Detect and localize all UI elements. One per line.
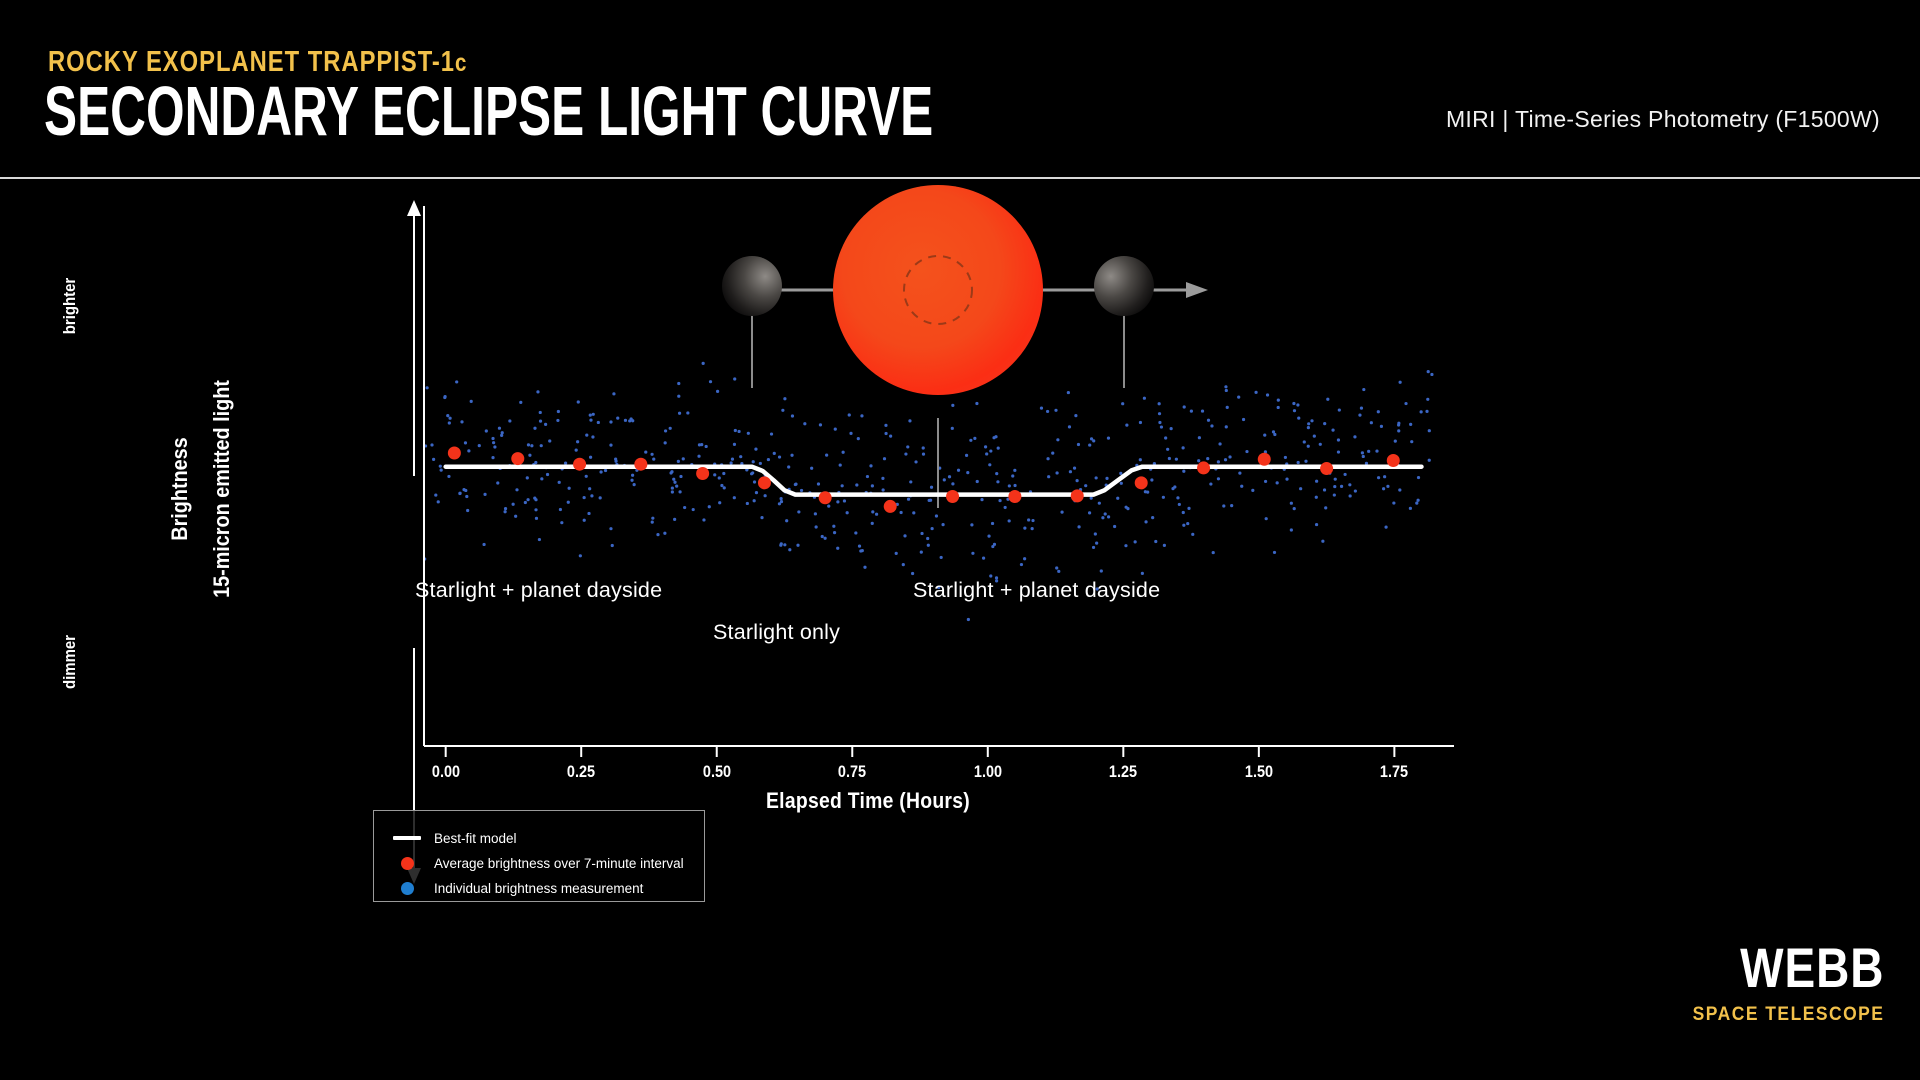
raw-point bbox=[842, 451, 845, 454]
raw-point bbox=[1187, 507, 1190, 510]
raw-point bbox=[1056, 438, 1059, 441]
raw-point bbox=[1307, 422, 1310, 425]
x-axis-tick-label: 1.75 bbox=[1380, 762, 1408, 782]
raw-point bbox=[1107, 515, 1110, 518]
raw-point bbox=[530, 444, 533, 447]
raw-point bbox=[567, 501, 570, 504]
raw-point bbox=[1004, 506, 1007, 509]
raw-point bbox=[773, 452, 776, 455]
raw-point bbox=[821, 535, 824, 538]
raw-point bbox=[973, 437, 976, 440]
raw-point bbox=[866, 475, 869, 478]
raw-point bbox=[911, 572, 914, 575]
raw-point bbox=[1321, 540, 1324, 543]
raw-point bbox=[752, 460, 755, 463]
raw-point bbox=[1358, 413, 1361, 416]
raw-point bbox=[1251, 489, 1254, 492]
raw-point bbox=[1338, 408, 1341, 411]
x-axis-tick-label: 0.75 bbox=[838, 762, 866, 782]
raw-point bbox=[760, 516, 763, 519]
raw-point bbox=[528, 454, 531, 457]
raw-point bbox=[1057, 570, 1060, 573]
raw-point bbox=[1119, 472, 1122, 475]
binned-point bbox=[1135, 476, 1148, 489]
raw-point bbox=[536, 390, 539, 393]
raw-point bbox=[841, 484, 844, 487]
raw-point bbox=[1337, 438, 1340, 441]
raw-point bbox=[1206, 457, 1209, 460]
raw-point bbox=[1146, 491, 1149, 494]
binned-point bbox=[634, 458, 647, 471]
raw-point bbox=[1265, 517, 1268, 520]
raw-point bbox=[1186, 522, 1189, 525]
raw-point bbox=[708, 505, 711, 508]
raw-point bbox=[464, 489, 467, 492]
raw-point bbox=[875, 513, 878, 516]
raw-point bbox=[1046, 410, 1049, 413]
raw-point bbox=[833, 531, 836, 534]
instrument-label: MIRI | Time-Series Photometry (F1500W) bbox=[1446, 106, 1880, 133]
raw-point bbox=[834, 427, 837, 430]
raw-point bbox=[1326, 398, 1329, 401]
raw-point bbox=[539, 411, 542, 414]
raw-point bbox=[1263, 434, 1266, 437]
raw-point bbox=[1218, 442, 1221, 445]
raw-point bbox=[1392, 501, 1395, 504]
x-axis-tick-label: 1.00 bbox=[974, 762, 1002, 782]
raw-point bbox=[759, 462, 762, 465]
raw-point bbox=[767, 458, 770, 461]
raw-point bbox=[1151, 516, 1154, 519]
raw-point bbox=[540, 477, 543, 480]
raw-point bbox=[1074, 414, 1077, 417]
raw-point bbox=[466, 509, 469, 512]
raw-point bbox=[848, 413, 851, 416]
raw-point bbox=[1417, 476, 1420, 479]
raw-point bbox=[568, 487, 571, 490]
raw-point bbox=[920, 551, 923, 554]
raw-point bbox=[1031, 519, 1034, 522]
raw-point bbox=[702, 518, 705, 521]
raw-point bbox=[1164, 436, 1167, 439]
raw-point bbox=[1121, 402, 1124, 405]
raw-point bbox=[483, 493, 486, 496]
binned-point bbox=[448, 447, 461, 460]
raw-point bbox=[682, 457, 685, 460]
raw-point bbox=[538, 538, 541, 541]
raw-point bbox=[733, 496, 736, 499]
raw-point bbox=[783, 397, 786, 400]
raw-point bbox=[754, 448, 757, 451]
raw-point bbox=[631, 419, 634, 422]
raw-point bbox=[951, 427, 954, 430]
raw-point bbox=[430, 443, 433, 446]
raw-point bbox=[989, 449, 992, 452]
raw-point bbox=[869, 464, 872, 467]
raw-point bbox=[940, 556, 943, 559]
raw-point bbox=[1428, 429, 1431, 432]
raw-point bbox=[677, 460, 680, 463]
binned-point bbox=[1071, 489, 1084, 502]
raw-point bbox=[1242, 418, 1245, 421]
raw-point bbox=[590, 494, 593, 497]
raw-point bbox=[984, 445, 987, 448]
raw-point bbox=[819, 423, 822, 426]
raw-point bbox=[1297, 417, 1300, 420]
raw-point bbox=[589, 414, 592, 417]
raw-point bbox=[1141, 572, 1144, 575]
raw-point bbox=[512, 503, 515, 506]
raw-point bbox=[713, 473, 716, 476]
raw-point bbox=[912, 511, 915, 514]
raw-point bbox=[683, 506, 686, 509]
raw-point bbox=[1069, 470, 1072, 473]
raw-point bbox=[1166, 448, 1169, 451]
raw-point bbox=[709, 380, 712, 383]
binned-point bbox=[946, 490, 959, 503]
raw-point bbox=[1217, 477, 1220, 480]
raw-point bbox=[1370, 421, 1373, 424]
legend-item-average-brightness: Average brightness over 7-minute interva… bbox=[390, 852, 684, 874]
webb-logo: WEBB SPACE TELESCOPE bbox=[1676, 946, 1884, 1024]
raw-point bbox=[671, 490, 674, 493]
raw-point bbox=[836, 500, 839, 503]
best-fit-model-line bbox=[446, 467, 1422, 495]
raw-point bbox=[836, 547, 839, 550]
raw-point bbox=[1094, 532, 1097, 535]
raw-point bbox=[559, 508, 562, 511]
raw-point bbox=[1238, 472, 1241, 475]
annotation-starlight-plus-dayside-right: Starlight + planet dayside bbox=[913, 578, 1160, 603]
raw-point bbox=[922, 446, 925, 449]
raw-point bbox=[1013, 484, 1016, 487]
raw-point bbox=[498, 427, 501, 430]
raw-point bbox=[1349, 494, 1352, 497]
raw-point bbox=[1068, 425, 1071, 428]
raw-point bbox=[751, 471, 754, 474]
raw-point bbox=[624, 419, 627, 422]
raw-point bbox=[1212, 551, 1215, 554]
raw-point bbox=[588, 487, 591, 490]
raw-point bbox=[677, 395, 680, 398]
raw-point bbox=[611, 544, 614, 547]
raw-point bbox=[1409, 507, 1412, 510]
raw-point bbox=[1182, 446, 1185, 449]
raw-point bbox=[437, 500, 440, 503]
raw-point bbox=[1139, 458, 1142, 461]
raw-point bbox=[1426, 398, 1429, 401]
raw-point bbox=[817, 482, 820, 485]
raw-point bbox=[969, 439, 972, 442]
raw-point bbox=[1284, 456, 1287, 459]
raw-point bbox=[1384, 526, 1387, 529]
raw-point bbox=[929, 499, 932, 502]
raw-point bbox=[1416, 499, 1419, 502]
raw-point bbox=[548, 439, 551, 442]
raw-point bbox=[723, 486, 726, 489]
raw-point bbox=[1310, 419, 1313, 422]
raw-point bbox=[491, 456, 494, 459]
y-axis-title: Brightness bbox=[167, 309, 193, 669]
raw-point bbox=[1098, 502, 1101, 505]
raw-point bbox=[1299, 487, 1302, 490]
raw-point bbox=[788, 548, 791, 551]
raw-point bbox=[1107, 437, 1110, 440]
raw-point bbox=[991, 522, 994, 525]
raw-point bbox=[907, 498, 910, 501]
raw-point bbox=[1182, 470, 1185, 473]
raw-point bbox=[467, 449, 470, 452]
raw-point bbox=[526, 476, 529, 479]
raw-point bbox=[967, 618, 970, 621]
raw-point bbox=[1116, 497, 1119, 500]
raw-point bbox=[534, 508, 537, 511]
raw-point bbox=[1207, 419, 1210, 422]
raw-point bbox=[1023, 557, 1026, 560]
host-star-graphic bbox=[833, 185, 1043, 395]
raw-point bbox=[770, 432, 773, 435]
raw-point bbox=[1425, 410, 1428, 413]
raw-point bbox=[1077, 525, 1080, 528]
raw-point bbox=[1008, 519, 1011, 522]
raw-point bbox=[1090, 497, 1093, 500]
raw-point bbox=[993, 543, 996, 546]
raw-point bbox=[951, 404, 954, 407]
raw-point bbox=[780, 497, 783, 500]
raw-point bbox=[465, 495, 468, 498]
chart-legend: Best-fit model Average brightness over 7… bbox=[373, 810, 705, 902]
raw-point bbox=[755, 491, 758, 494]
planet-graphic-right bbox=[1094, 256, 1154, 316]
raw-point bbox=[1410, 440, 1413, 443]
raw-point bbox=[1225, 389, 1228, 392]
raw-point bbox=[1095, 542, 1098, 545]
x-axis-tick-label: 0.50 bbox=[703, 762, 731, 782]
raw-point bbox=[859, 549, 862, 552]
raw-point bbox=[1245, 450, 1248, 453]
raw-point bbox=[583, 519, 586, 522]
raw-point bbox=[558, 481, 561, 484]
raw-point bbox=[673, 518, 676, 521]
raw-point bbox=[587, 512, 590, 515]
raw-point bbox=[651, 517, 654, 520]
legend-label: Individual brightness measurement bbox=[434, 881, 643, 896]
raw-point bbox=[718, 501, 721, 504]
raw-point bbox=[730, 461, 733, 464]
raw-point bbox=[599, 496, 602, 499]
raw-point bbox=[1307, 426, 1310, 429]
raw-point bbox=[1051, 452, 1054, 455]
raw-point bbox=[1307, 445, 1310, 448]
raw-point bbox=[884, 432, 887, 435]
raw-point bbox=[478, 444, 481, 447]
legend-dot-swatch-red bbox=[390, 857, 424, 870]
raw-point bbox=[941, 523, 944, 526]
raw-point bbox=[985, 452, 988, 455]
raw-point bbox=[702, 362, 705, 365]
raw-point bbox=[514, 515, 517, 518]
raw-point bbox=[539, 420, 542, 423]
legend-item-individual-measurement: Individual brightness measurement bbox=[390, 877, 643, 899]
raw-point bbox=[996, 480, 999, 483]
raw-point bbox=[604, 469, 607, 472]
raw-point bbox=[922, 453, 925, 456]
raw-point bbox=[781, 409, 784, 412]
raw-point bbox=[794, 483, 797, 486]
raw-point bbox=[426, 386, 429, 389]
raw-point bbox=[1084, 484, 1087, 487]
raw-point bbox=[1394, 440, 1397, 443]
raw-point bbox=[908, 419, 911, 422]
binned-point bbox=[819, 491, 832, 504]
raw-point bbox=[597, 421, 600, 424]
raw-point bbox=[1354, 489, 1357, 492]
raw-point bbox=[1134, 540, 1137, 543]
raw-point bbox=[734, 429, 737, 432]
raw-point bbox=[1224, 385, 1227, 388]
page-title: SECONDARY ECLIPSE LIGHT CURVE bbox=[44, 78, 933, 147]
raw-point bbox=[1420, 410, 1423, 413]
raw-point bbox=[926, 537, 929, 540]
raw-point bbox=[927, 544, 930, 547]
raw-point bbox=[930, 486, 933, 489]
raw-point bbox=[1362, 455, 1365, 458]
binned-point bbox=[1320, 462, 1333, 475]
raw-point bbox=[673, 481, 676, 484]
raw-point bbox=[825, 454, 828, 457]
raw-point bbox=[1139, 421, 1142, 424]
x-axis-ticks bbox=[446, 746, 1395, 757]
raw-point bbox=[614, 460, 617, 463]
raw-point bbox=[1170, 427, 1173, 430]
raw-point bbox=[671, 486, 674, 489]
raw-point bbox=[1377, 410, 1380, 413]
raw-point bbox=[1225, 425, 1228, 428]
raw-point bbox=[976, 480, 979, 483]
raw-point bbox=[1095, 476, 1098, 479]
y-axis-subtitle: 15-micron emitted light bbox=[209, 309, 235, 669]
raw-point bbox=[904, 452, 907, 455]
raw-point bbox=[664, 441, 667, 444]
raw-point bbox=[491, 437, 494, 440]
raw-point bbox=[992, 436, 995, 439]
raw-point bbox=[1027, 518, 1030, 521]
raw-point bbox=[644, 450, 647, 453]
raw-point bbox=[753, 499, 756, 502]
raw-point bbox=[576, 440, 579, 443]
raw-point bbox=[1430, 373, 1433, 376]
binned-point bbox=[1258, 453, 1271, 466]
raw-point bbox=[737, 430, 740, 433]
raw-point bbox=[1198, 436, 1201, 439]
raw-point bbox=[1217, 460, 1220, 463]
raw-point bbox=[1160, 425, 1163, 428]
raw-point bbox=[832, 525, 835, 528]
raw-point bbox=[1191, 533, 1194, 536]
raw-point bbox=[889, 435, 892, 438]
raw-point bbox=[560, 521, 563, 524]
raw-point bbox=[903, 534, 906, 537]
x-axis-tick-label: 1.50 bbox=[1245, 762, 1273, 782]
raw-point bbox=[1088, 511, 1091, 514]
raw-point bbox=[564, 462, 567, 465]
raw-point bbox=[1020, 563, 1023, 566]
raw-point bbox=[448, 417, 451, 420]
raw-point bbox=[446, 414, 449, 417]
raw-point bbox=[951, 482, 954, 485]
raw-point bbox=[677, 382, 680, 385]
raw-point bbox=[1175, 458, 1178, 461]
raw-point bbox=[975, 402, 978, 405]
raw-point bbox=[1210, 424, 1213, 427]
raw-point bbox=[592, 413, 595, 416]
raw-point bbox=[675, 484, 678, 487]
raw-point bbox=[519, 401, 522, 404]
legend-dot-swatch-blue bbox=[390, 882, 424, 895]
raw-point bbox=[1125, 506, 1128, 509]
raw-point bbox=[733, 377, 736, 380]
raw-point bbox=[733, 443, 736, 446]
raw-point bbox=[1183, 405, 1186, 408]
raw-point bbox=[670, 470, 673, 473]
raw-point bbox=[1040, 407, 1043, 410]
binned-point bbox=[884, 500, 897, 513]
raw-point bbox=[1360, 407, 1363, 410]
raw-point bbox=[1113, 525, 1116, 528]
raw-point bbox=[966, 471, 969, 474]
raw-point bbox=[1361, 451, 1364, 454]
raw-point bbox=[492, 441, 495, 444]
raw-point bbox=[739, 455, 742, 458]
raw-point bbox=[1240, 485, 1243, 488]
raw-point bbox=[1382, 487, 1385, 490]
raw-point bbox=[1292, 402, 1295, 405]
raw-point bbox=[1055, 566, 1058, 569]
raw-point bbox=[849, 432, 852, 435]
raw-point bbox=[1264, 480, 1267, 483]
raw-point bbox=[1168, 457, 1171, 460]
raw-point bbox=[1046, 457, 1049, 460]
raw-point bbox=[663, 532, 666, 535]
raw-point bbox=[718, 476, 721, 479]
raw-point bbox=[1296, 403, 1299, 406]
raw-point bbox=[591, 435, 594, 438]
raw-point bbox=[1313, 435, 1316, 438]
binned-point bbox=[1387, 454, 1400, 467]
raw-point bbox=[1060, 511, 1063, 514]
raw-point bbox=[1092, 439, 1095, 442]
raw-point bbox=[1182, 511, 1185, 514]
raw-point bbox=[692, 508, 695, 511]
raw-point bbox=[1144, 520, 1147, 523]
raw-point bbox=[970, 523, 973, 526]
raw-point bbox=[863, 566, 866, 569]
raw-point bbox=[1178, 503, 1181, 506]
raw-point bbox=[1023, 527, 1026, 530]
binned-point bbox=[758, 476, 771, 489]
raw-point bbox=[1323, 488, 1326, 491]
raw-point bbox=[1237, 396, 1240, 399]
raw-point bbox=[935, 514, 938, 517]
raw-point bbox=[1293, 409, 1296, 412]
raw-point bbox=[455, 380, 458, 383]
raw-point bbox=[599, 470, 602, 473]
raw-point bbox=[485, 429, 488, 432]
binned-point bbox=[1197, 461, 1210, 474]
raw-point bbox=[1290, 528, 1293, 531]
raw-point bbox=[1367, 450, 1370, 453]
raw-point bbox=[669, 427, 672, 430]
